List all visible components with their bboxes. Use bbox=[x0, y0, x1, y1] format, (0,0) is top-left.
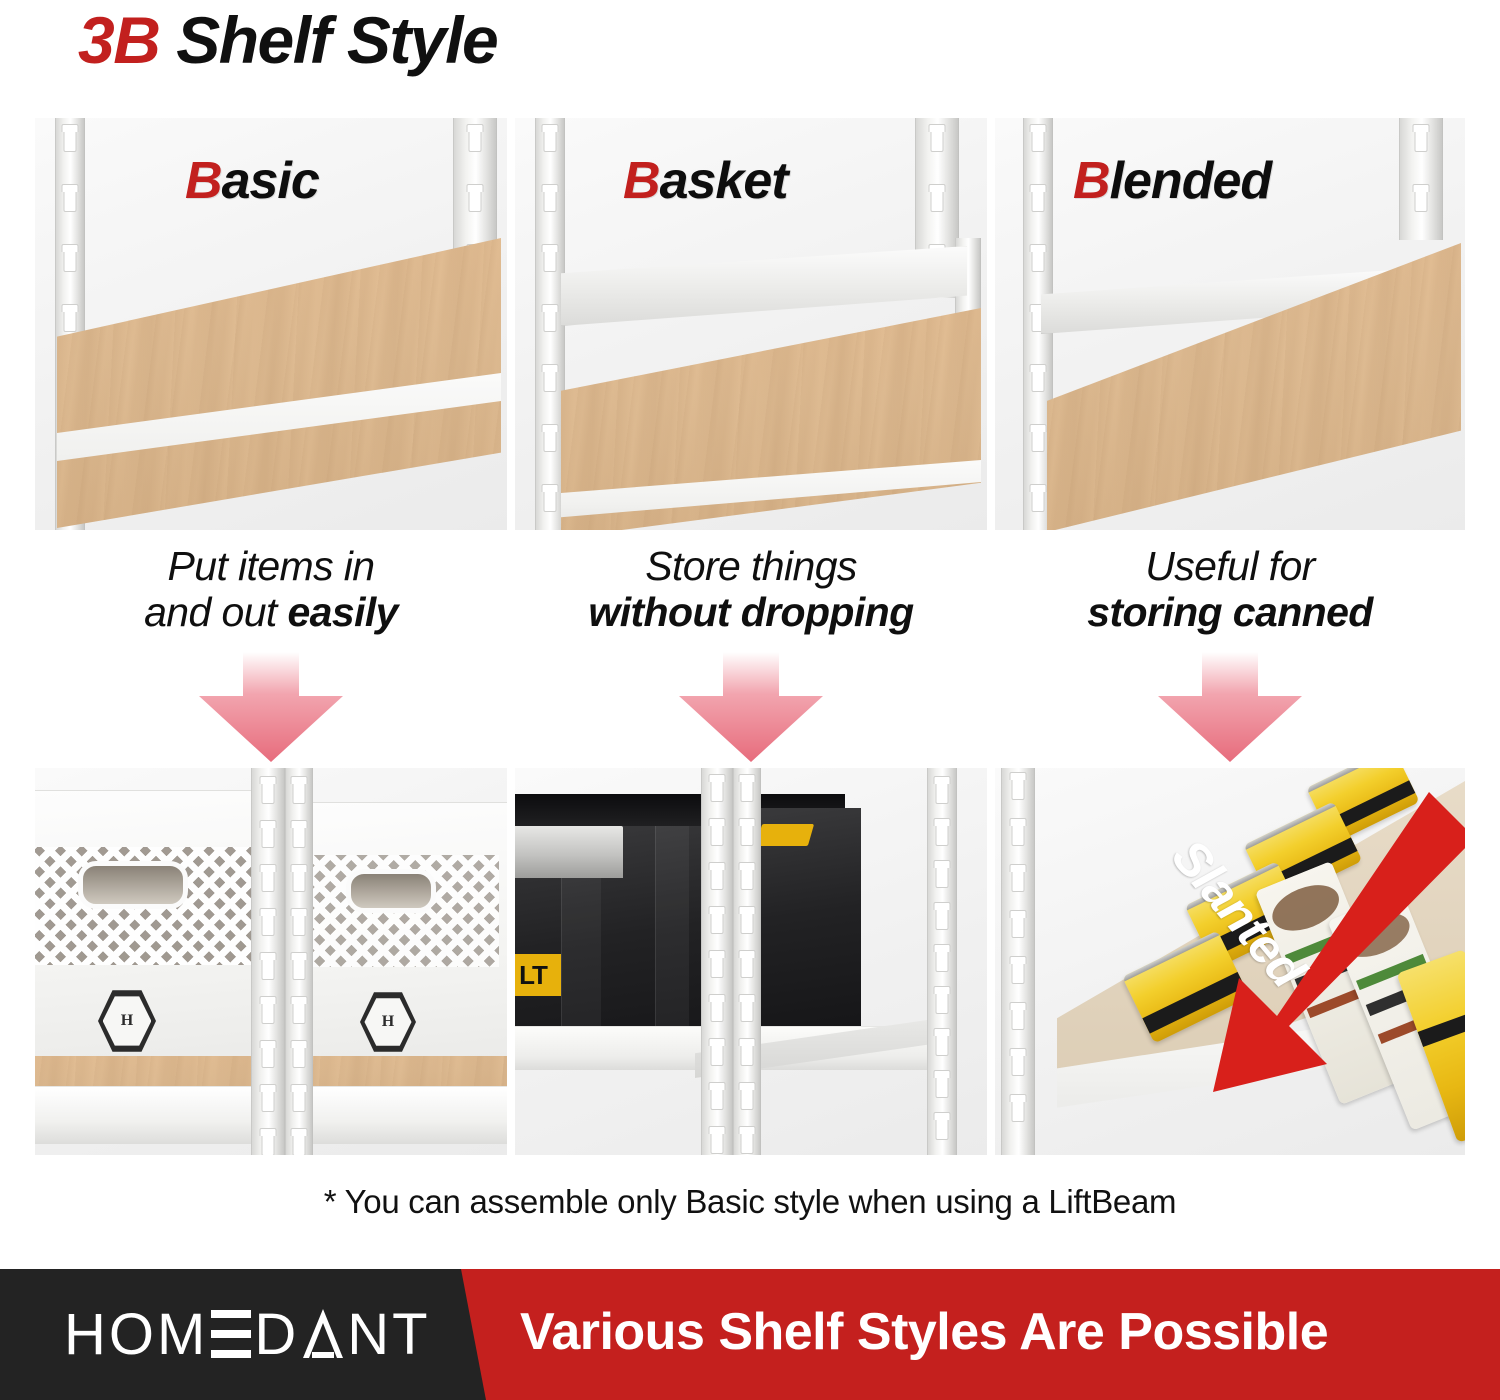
toolbox-brand-logo: LT bbox=[515, 954, 561, 996]
down-arrow-basket bbox=[671, 652, 831, 762]
toolbox-tray-metal bbox=[515, 826, 623, 878]
brand-part1: HOM bbox=[64, 1302, 208, 1367]
footnote: * You can assemble only Basic style when… bbox=[0, 1183, 1500, 1221]
crate-handle bbox=[346, 869, 436, 913]
shelf-post-front-flange bbox=[733, 768, 761, 1155]
caption-basic: Put items in and out easily bbox=[35, 543, 507, 639]
caption-line1: Store things bbox=[515, 543, 987, 589]
post-slots bbox=[536, 118, 564, 530]
brand-letter-e-glyph bbox=[211, 1306, 251, 1361]
shelf-post-front bbox=[251, 768, 285, 1155]
caption-line2: storing canned bbox=[995, 589, 1465, 635]
milk-crate-rear: H bbox=[297, 802, 507, 1082]
caption-blended: Useful for storing canned bbox=[995, 543, 1465, 639]
shelf-post-left bbox=[535, 118, 565, 530]
shelf-post-left bbox=[1001, 768, 1035, 1155]
caption-line2: and out easily bbox=[35, 589, 507, 635]
brand-part2: D bbox=[254, 1302, 299, 1367]
panel-basket: Basket bbox=[515, 118, 987, 530]
shelf-post-front-flange bbox=[285, 768, 313, 1155]
infographic-page: 3B Shelf Style Basic bbox=[0, 0, 1500, 1400]
panel-slanted-cans: Slanted bbox=[995, 768, 1465, 1155]
post-slots bbox=[734, 768, 760, 1155]
caption-line1: Put items in bbox=[35, 543, 507, 589]
crate-logo-hex: H bbox=[98, 989, 156, 1053]
shelf-post-right bbox=[1399, 118, 1443, 240]
panel-label-basic: Basic bbox=[185, 151, 319, 211]
caption-line2: without dropping bbox=[515, 589, 987, 635]
crate-handle bbox=[78, 861, 188, 909]
toolbox-latch bbox=[756, 824, 814, 846]
panel-blended: Blended bbox=[995, 118, 1465, 530]
panel-label-basket: Basket bbox=[623, 151, 788, 211]
caption-basket: Store things without dropping bbox=[515, 543, 987, 639]
post-slots-right bbox=[1400, 118, 1442, 240]
page-title: 3B Shelf Style bbox=[78, 2, 497, 78]
post-slots bbox=[1002, 768, 1034, 1155]
caption-line1: Useful for bbox=[995, 543, 1465, 589]
shelf-post-rear bbox=[927, 768, 957, 1155]
post-slots bbox=[252, 768, 284, 1155]
post-slots bbox=[928, 768, 956, 1155]
footer-bar: HOMD NT Various Shelf Styles Are Possibl… bbox=[0, 1269, 1500, 1400]
down-arrow-blended bbox=[1150, 652, 1310, 762]
brand-logo: HOMD NT bbox=[64, 1300, 431, 1370]
page-title-rest: Shelf Style bbox=[159, 3, 497, 77]
footer-tagline: Various Shelf Styles Are Possible bbox=[520, 1302, 1328, 1362]
crate-logo-hex: H bbox=[360, 991, 416, 1053]
crate-logo-letter: H bbox=[103, 995, 152, 1046]
shelf-post-front bbox=[701, 768, 733, 1155]
brand-part3: NT bbox=[347, 1302, 430, 1367]
post-slots bbox=[286, 768, 312, 1155]
panel-crates: H H bbox=[35, 768, 507, 1155]
brand-letter-a-glyph bbox=[301, 1306, 345, 1361]
panel-toolbox: LT bbox=[515, 768, 987, 1155]
crate-logo-letter: H bbox=[364, 997, 411, 1047]
post-slots bbox=[702, 768, 732, 1155]
panel-basic: Basic bbox=[35, 118, 507, 530]
toolbox-brand-text: LT bbox=[519, 960, 547, 991]
down-arrow-basic bbox=[191, 652, 351, 762]
panel-label-blended: Blended bbox=[1073, 151, 1271, 211]
page-title-accent: 3B bbox=[78, 3, 159, 77]
